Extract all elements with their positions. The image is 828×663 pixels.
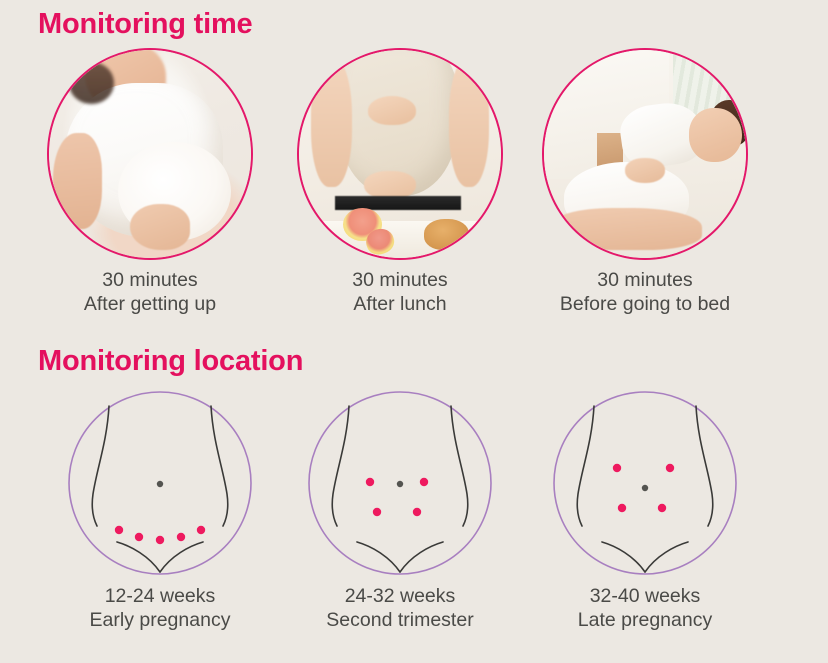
section-title-monitoring-location: Monitoring location (38, 345, 303, 378)
caption-line-1: 24-32 weeks (307, 584, 493, 608)
groin-right-line (160, 542, 203, 572)
photo-detail-right-arm (449, 58, 489, 187)
torso-right-outline (696, 406, 713, 526)
photo-detail-pastry (424, 219, 468, 250)
caption-after-getting-up: 30 minutes After getting up (47, 268, 253, 316)
torso-left-outline (577, 406, 594, 526)
caption-line-2: Early pregnancy (67, 608, 253, 632)
photo-detail-hand (130, 204, 191, 250)
monitoring-dot-3 (618, 504, 626, 512)
photo-circle-before-bed (542, 48, 748, 260)
caption-early-pregnancy: 12-24 weeks Early pregnancy (67, 584, 253, 632)
caption-before-bed: 30 minutes Before going to bed (542, 268, 748, 316)
photo-circle-after-getting-up (47, 48, 253, 260)
location-item-second-trimester: 24-32 weeks Second trimester (307, 390, 493, 632)
monitoring-dot-1 (366, 478, 374, 486)
caption-line-1: 30 minutes (297, 268, 503, 292)
torso-diagram-svg (307, 390, 493, 576)
monitoring-dots (115, 526, 205, 544)
torso-diagram-early-pregnancy (67, 390, 253, 576)
photo-detail-head (689, 108, 742, 162)
groin-right-line (400, 542, 443, 572)
caption-after-lunch: 30 minutes After lunch (297, 268, 503, 316)
caption-line-1: 32-40 weeks (552, 584, 738, 608)
caption-line-1: 12-24 weeks (67, 584, 253, 608)
groin-right-line (645, 542, 688, 572)
torso-diagram-late-pregnancy (552, 390, 738, 576)
location-item-late-pregnancy: 32-40 weeks Late pregnancy (552, 390, 738, 632)
torso-diagram-svg (552, 390, 738, 576)
monitoring-dot-2 (666, 464, 674, 472)
navel-marker (642, 485, 648, 491)
caption-line-2: Before going to bed (542, 292, 748, 316)
monitoring-dot-3 (156, 536, 164, 544)
photo-circle-after-lunch (297, 48, 503, 260)
pregnant-woman-standing-photo (49, 50, 251, 258)
torso-left-outline (92, 406, 109, 526)
caption-line-2: After lunch (297, 292, 503, 316)
navel-marker (157, 481, 163, 487)
caption-line-2: Second trimester (307, 608, 493, 632)
torso-diagram-second-trimester (307, 390, 493, 576)
monitoring-dot-2 (420, 478, 428, 486)
time-item-before-bed: 30 minutes Before going to bed (542, 48, 748, 316)
caption-line-1: 30 minutes (47, 268, 253, 292)
photo-detail-hands (625, 158, 665, 183)
diagram-outer-circle (554, 392, 736, 574)
photo-detail-upper-hand (368, 96, 416, 125)
monitoring-dot-2 (135, 533, 143, 541)
location-item-early-pregnancy: 12-24 weeks Early pregnancy (67, 390, 253, 632)
groin-left-line (357, 542, 400, 572)
monitoring-dot-4 (177, 533, 185, 541)
monitoring-dot-5 (197, 526, 205, 534)
caption-second-trimester: 24-32 weeks Second trimester (307, 584, 493, 632)
monitoring-dot-1 (115, 526, 123, 534)
infographic-page: Monitoring time 30 minutes After getting… (0, 0, 828, 663)
monitoring-dot-3 (373, 508, 381, 516)
photo-detail-left-arm (311, 58, 351, 187)
time-item-after-getting-up: 30 minutes After getting up (47, 48, 253, 316)
monitoring-dot-1 (613, 464, 621, 472)
navel-marker (397, 481, 403, 487)
monitoring-dot-4 (413, 508, 421, 516)
torso-right-outline (211, 406, 228, 526)
monitoring-dot-4 (658, 504, 666, 512)
caption-late-pregnancy: 32-40 weeks Late pregnancy (552, 584, 738, 632)
caption-line-2: Late pregnancy (552, 608, 738, 632)
photo-detail-waistband (335, 196, 460, 211)
photo-detail-counter (299, 221, 501, 258)
pregnant-woman-lying-in-bed-photo (544, 50, 746, 258)
photo-detail-lower-arm (552, 208, 701, 250)
photo-detail-arm (53, 133, 101, 229)
time-item-after-lunch: 30 minutes After lunch (297, 48, 503, 316)
caption-line-2: After getting up (47, 292, 253, 316)
torso-left-outline (332, 406, 349, 526)
section-title-monitoring-time: Monitoring time (38, 8, 252, 41)
caption-line-1: 30 minutes (542, 268, 748, 292)
groin-left-line (602, 542, 645, 572)
groin-left-line (117, 542, 160, 572)
torso-right-outline (451, 406, 468, 526)
torso-diagram-svg (67, 390, 253, 576)
pregnant-woman-with-food-photo (299, 50, 501, 258)
